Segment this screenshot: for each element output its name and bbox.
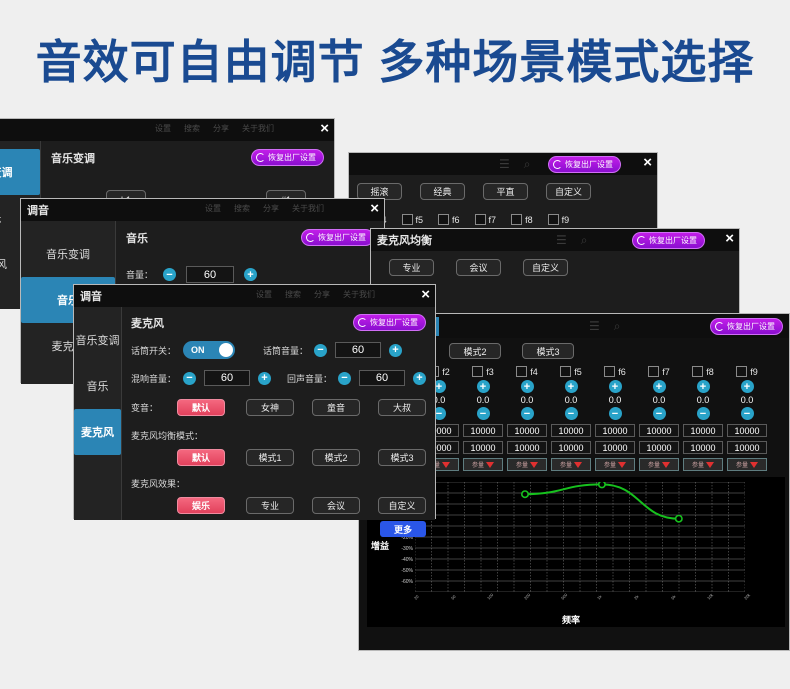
eq-band-checkbox[interactable] [648,366,659,377]
refresh-icon [358,318,367,327]
sidebar-item-music-pitch[interactable]: 音乐变调 [74,317,121,363]
sidebar-item-label: 音乐变调 [46,246,90,262]
chevron-down-icon [662,462,670,468]
chevron-down-icon [574,462,582,468]
titlebar-menu[interactable]: 设置 搜索 分享 关于我们 [256,289,375,300]
eq-band-checkbox[interactable] [548,214,559,225]
toggle-knob [219,343,233,357]
eq-band-checkbox[interactable] [604,366,615,377]
restore-defaults-button[interactable]: 恢复出厂设置 [353,314,426,331]
refresh-icon [306,233,315,242]
eq-band-gain-value: 0.0 [521,395,534,405]
eq-frequency-input[interactable]: 10000 [463,424,503,437]
eq-parameter-label: 参量 [472,460,484,469]
restore-defaults-button[interactable]: 恢复出厂设置 [632,232,705,249]
eq-band-label: f2 [442,367,450,377]
eq-preset-classic-button[interactable]: 经典 [420,183,465,200]
eq-band-gain-value: 0.0 [653,395,666,405]
eq-parameter-dropdown[interactable]: 参量 [683,458,723,471]
eq-band-column[interactable]: f5+0.0− [551,366,591,420]
chart-x-tick: 2k [633,594,640,601]
eq-band-label: f5 [574,367,582,377]
eq-parameter-label: 参量 [736,460,748,469]
eq-band-increase-button[interactable]: + [609,380,622,393]
titlemenu-item[interactable]: 搜索 [285,289,301,300]
eq-band-checkbox[interactable] [736,366,747,377]
eq-band-gain-value: 0.0 [565,395,578,405]
eq-band-increase-button[interactable]: + [653,380,666,393]
mic-effect-label: 麦克风效果： [131,479,185,489]
chart-y-tick: -60% [391,579,413,585]
restore-defaults-button[interactable]: 恢复出厂设置 [251,149,324,166]
eq-bandwidth-input[interactable]: 10000 [683,441,723,454]
mic-effect-label-item: 专业 [261,499,279,512]
eq-band-checkbox[interactable] [475,214,486,225]
voice-option-default-button[interactable]: 默认 [177,399,225,416]
eq-parameter-dropdown[interactable]: 参量 [463,458,503,471]
titlebar-eq-mid: 麦克风均衡 ☰ ⌕ 恢复出厂设置 × [371,229,739,251]
eq-band-label: f6 [452,215,460,225]
mic-effect-entertainment-button[interactable]: 娱乐 [177,497,225,514]
mic-switch-state: ON [191,345,205,355]
eq-mode-label: 模式3 [536,345,559,358]
eq-band-label: f6 [618,367,626,377]
mic-eq-mode-2-button[interactable]: 模式2 [312,449,360,466]
music-volume-increase-button[interactable]: + [244,268,257,281]
eq-preset-custom-button[interactable]: 自定义 [546,183,591,200]
eq-band-gain-value: 0.0 [741,395,754,405]
eq-band-increase-button[interactable]: + [565,380,578,393]
mic-effect-label-item: 自定义 [388,499,415,512]
titlebar-menu[interactable]: 设置 搜索 分享 关于我们 [205,203,324,214]
eq-band-increase-button[interactable]: + [477,380,490,393]
chevron-down-icon [750,462,758,468]
eq-parameter-label: 参量 [692,460,704,469]
eq-band-checkbox[interactable] [560,366,571,377]
eq-band-checkbox[interactable] [511,214,522,225]
more-button-label: 更多 [394,523,412,536]
titlemenu-item[interactable]: 搜索 [234,203,250,214]
eq-bandwidth-input[interactable]: 10000 [463,441,503,454]
close-icon[interactable]: × [725,230,734,248]
restore-defaults-label: 恢复出厂设置 [727,321,775,332]
voice-option-label: 童音 [327,401,345,414]
eq-preset-professional-button[interactable]: 专业 [389,259,434,276]
search-icon[interactable]: ⌕ [614,319,621,334]
chart-x-tick: 20k [743,592,751,600]
echo-volume-value[interactable]: 60 [359,370,405,386]
titlemenu-item[interactable]: 设置 [155,123,171,134]
chart-x-tick: 5k [670,594,677,601]
eq-band-column[interactable]: f7+0.0− [639,366,679,420]
mic-volume-label: 话筒音量： [263,344,308,357]
music-volume-label: 音量： [126,268,153,281]
banner-text: 音效可自由调节 多种场景模式选择 [36,26,755,92]
eq-bandwidth-input[interactable]: 10000 [551,441,591,454]
content-microphone: 麦克风 恢复出厂设置 话筒开关： ON 话筒音量： − 60 [122,307,435,520]
chart-x-tick: 1k [596,594,603,601]
chart-x-tick: 10k [706,592,714,600]
eq-band-decrease-button[interactable]: − [653,407,666,420]
restore-defaults-button[interactable]: 恢复出厂设置 [548,156,621,173]
mic-eq-mode-label-item: 模式2 [324,451,347,464]
more-button[interactable]: 更多 [380,521,426,537]
eq-band-gain-value: 0.0 [477,395,490,405]
eq-frequency-input[interactable]: 10000 [639,424,679,437]
eq-band-decrease-button[interactable]: − [609,407,622,420]
titlemenu-item[interactable]: 关于我们 [343,289,375,300]
restore-defaults-label: 恢复出厂设置 [268,152,316,163]
eq-band-column[interactable]: f6+0.0− [595,366,635,420]
titlebar-icons[interactable]: ☰ ⌕ [589,319,621,334]
voice-option-label: 女神 [261,401,279,414]
eq-band-decrease-button[interactable]: − [741,407,754,420]
music-volume-value[interactable]: 60 [186,266,234,283]
window-title-text: 调音 [80,288,102,304]
eq-band-checkbox[interactable] [472,366,483,377]
chart-xlabel: 频率 [562,613,580,626]
chart-x-tick: 50 [450,594,457,601]
eq-frequency-input[interactable]: 10000 [551,424,591,437]
mic-volume-value[interactable]: 60 [335,342,381,358]
titlebar-music-volume: 调音 设置 搜索 分享 关于我们 × [21,199,384,221]
sidebar-item-label: 音乐变调 [75,332,119,348]
mic-switch-label: 话筒开关： [131,344,183,357]
chart-x-tick: 100 [486,592,494,600]
titlemenu-item[interactable]: 分享 [263,203,279,214]
eq-frequency-input[interactable]: 10000 [595,424,635,437]
eq-parameter-label: 参量 [560,460,572,469]
chart-y-tick: -40% [391,557,413,563]
restore-defaults-label: 恢复出厂设置 [565,159,613,170]
eq-preset-custom-button[interactable]: 自定义 [523,259,568,276]
eq-preset-label: 自定义 [555,185,582,198]
restore-defaults-label: 恢复出厂设置 [318,232,366,243]
eq-band-label: f8 [525,215,533,225]
mic-effect-professional-button[interactable]: 专业 [246,497,294,514]
reverb-increase-button[interactable]: + [258,372,271,385]
eq-parameter-dropdown[interactable]: 参量 [507,458,547,471]
voice-change-label: 变音： [131,401,177,414]
voice-option-goddess-button[interactable]: 女神 [246,399,294,416]
eq-band-gain-value: 0.0 [697,395,710,405]
eq-parameter-label: 参量 [516,460,528,469]
eq-preset-label: 平直 [496,185,514,198]
eq-band-label: f8 [706,367,714,377]
titlebar-eq-back: ☰ ⌕ 恢复出厂设置 × [349,153,657,175]
mic-eq-mode-label: 麦克风均衡模式： [131,431,203,441]
chart-x-tick: 200 [523,592,531,600]
eq-parameter-dropdown[interactable]: 参量 [727,458,767,471]
sidebar-item-music-pitch[interactable]: 音乐变调 [21,231,115,277]
mic-eq-mode-label-item: 默认 [192,451,210,464]
mic-effect-label-item: 娱乐 [192,499,210,512]
chevron-down-icon [618,462,626,468]
eq-preset-meeting-button[interactable]: 会议 [456,259,501,276]
eq-band-label: f7 [489,215,497,225]
echo-volume-label: 回声音量： [287,372,332,385]
mic-volume-increase-button[interactable]: + [389,344,402,357]
close-icon[interactable]: × [643,154,652,172]
mic-switch-toggle[interactable]: ON [183,341,235,359]
eq-bandwidth-input[interactable]: 10000 [727,441,767,454]
window-microphone[interactable]: 调音 设置 搜索 分享 关于我们 × 音乐变调 音乐 麦克风 [73,284,436,519]
eq-preset-label: 专业 [402,261,420,274]
screenshot-stage: 音乐变调 设置 搜索 分享 关于我们 × 音乐变调 音乐 麦克风 [0,118,790,689]
eq-band-decrease-button[interactable]: − [477,407,490,420]
voice-option-uncle-button[interactable]: 大叔 [378,399,426,416]
section-title: 音乐 [126,230,148,246]
eq-preset-flat-button[interactable]: 平直 [483,183,528,200]
sliders-icon[interactable]: ☰ [556,233,567,248]
eq-band-checkbox[interactable] [438,214,449,225]
chart-x-tick: 20 [413,594,420,601]
sidebar-item-label: 麦克风 [81,424,114,440]
eq-preset-label: 会议 [469,261,487,274]
eq-band-increase-button[interactable]: + [521,380,534,393]
eq-bandwidth-input[interactable]: 10000 [595,441,635,454]
mic-eq-mode-1-button[interactable]: 模式1 [246,449,294,466]
refresh-icon [553,160,562,169]
mic-effect-custom-button[interactable]: 自定义 [378,497,426,514]
eq-band-column[interactable]: f3+0.0− [463,366,503,420]
page-banner: 音效可自由调节 多种场景模式选择 [0,0,790,118]
eq-band-decrease-button[interactable]: − [697,407,710,420]
window-title-text: 调音 [27,202,49,218]
close-icon[interactable]: × [320,120,329,138]
sidebar-item-label: 音乐 [86,378,108,394]
chart-plot-area [415,482,745,592]
eq-frequency-input[interactable]: 10000 [727,424,767,437]
window-title-text: 麦克风均衡 [377,232,432,248]
eq-preset-label: 自定义 [532,261,559,274]
titlemenu-item[interactable]: 分享 [213,123,229,134]
mic-effect-label-item: 会议 [327,499,345,512]
eq-mode-label: 模式2 [463,345,486,358]
eq-band-checkbox[interactable] [516,366,527,377]
eq-band-column[interactable]: f8+0.0− [683,366,723,420]
titlemenu-item[interactable]: 设置 [256,289,272,300]
eq-band-label: f4 [530,367,538,377]
refresh-icon [715,322,724,331]
eq-band-decrease-button[interactable]: − [521,407,534,420]
eq-band-label: f7 [662,367,670,377]
titlebar-music-pitch: 音乐变调 设置 搜索 分享 关于我们 × [0,119,334,141]
sidebar-item-label: 麦克风 [0,256,7,272]
eq-frequency-input[interactable]: 10000 [683,424,723,437]
eq-band-increase-button[interactable]: + [697,380,710,393]
sliders-icon[interactable]: ☰ [589,319,600,334]
eq-preset-label: 摇滚 [370,185,388,198]
reverb-decrease-button[interactable]: − [183,372,196,385]
eq-parameter-dropdown[interactable]: 参量 [639,458,679,471]
mic-eq-mode-3-button[interactable]: 模式3 [378,449,426,466]
chevron-down-icon [706,462,714,468]
sidebar-item-microphone[interactable]: 麦克风 [74,409,121,455]
chart-y-tick: -50% [391,568,413,574]
mic-volume-decrease-button[interactable]: − [314,344,327,357]
eq-parameter-label: 参量 [648,460,660,469]
refresh-icon [256,153,265,162]
mic-eq-mode-label-item: 模式3 [390,451,413,464]
search-icon[interactable]: ⌕ [581,233,588,248]
eq-band-label: f5 [416,215,424,225]
close-icon[interactable]: × [421,286,430,304]
eq-bandwidth-input[interactable]: 10000 [507,441,547,454]
eq-frequency-input[interactable]: 10000 [507,424,547,437]
echo-decrease-button[interactable]: − [338,372,351,385]
sliders-icon[interactable]: ☰ [499,157,510,172]
eq-band-label: f9 [750,367,758,377]
chevron-down-icon [486,462,494,468]
chart-ylabel: 增益 [371,539,389,552]
sidebar-item-label: 音乐变调 [0,164,13,180]
close-icon[interactable]: × [370,200,379,218]
chart-y-tick: -30% [391,546,413,552]
restore-defaults-label: 恢复出厂设置 [370,317,418,328]
eq-band-checkbox[interactable] [402,214,413,225]
eq-parameter-label: 参量 [604,460,616,469]
titlemenu-item[interactable]: 分享 [314,289,330,300]
titlebar-microphone: 调音 设置 搜索 分享 关于我们 × [74,285,435,307]
titlemenu-item[interactable]: 搜索 [184,123,200,134]
titlebar-icons[interactable]: ☰ ⌕ [499,157,531,172]
search-icon[interactable]: ⌕ [524,157,531,172]
mic-eq-mode-label-item: 模式1 [258,451,281,464]
eq-parameter-dropdown[interactable]: 参量 [551,458,591,471]
section-title: 音乐变调 [51,150,95,166]
echo-increase-button[interactable]: + [413,372,426,385]
mic-effect-meeting-button[interactable]: 会议 [312,497,360,514]
reverb-volume-value[interactable]: 60 [204,370,250,386]
eq-band-label: f3 [486,367,494,377]
eq-band-checkbox[interactable] [692,366,703,377]
voice-option-child-button[interactable]: 童音 [312,399,360,416]
chevron-down-icon [530,462,538,468]
music-volume-decrease-button[interactable]: − [163,268,176,281]
eq-parameter-dropdown[interactable]: 参量 [595,458,635,471]
sidebar-item-music-pitch[interactable]: 音乐变调 [0,149,40,195]
titlemenu-item[interactable]: 关于我们 [292,203,324,214]
voice-option-label: 默认 [192,401,210,414]
eq-mode-2-button[interactable]: 模式2 [449,343,501,359]
sidebar-microphone[interactable]: 音乐变调 音乐 麦克风 [74,307,122,520]
eq-band-column[interactable]: f9+0.0− [727,366,767,420]
sidebar-item-label: 音乐 [0,210,2,226]
restore-defaults-label: 恢复出厂设置 [649,235,697,246]
titlemenu-item[interactable]: 关于我们 [242,123,274,134]
titlemenu-item[interactable]: 设置 [205,203,221,214]
chart-x-tick: 500 [560,592,568,600]
voice-option-label: 大叔 [393,401,411,414]
titlebar-menu[interactable]: 设置 搜索 分享 关于我们 [155,123,274,134]
mic-eq-mode-default-button[interactable]: 默认 [177,449,225,466]
eq-band-label: f9 [562,215,570,225]
sidebar-item-music[interactable]: 音乐 [74,363,121,409]
titlebar-icons[interactable]: ☰ ⌕ [556,233,588,248]
eq-preset-label: 经典 [433,185,451,198]
eq-mode-3-button[interactable]: 模式3 [522,343,574,359]
eq-band-column[interactable]: f4+0.0− [507,366,547,420]
refresh-icon [637,236,646,245]
reverb-volume-label: 混响音量： [131,372,183,385]
eq-bandwidth-input[interactable]: 10000 [639,441,679,454]
section-title: 麦克风 [131,315,164,331]
eq-band-increase-button[interactable]: + [741,380,754,393]
restore-defaults-button[interactable]: 恢复出厂设置 [301,229,374,246]
restore-defaults-button[interactable]: 恢复出厂设置 [710,318,783,335]
eq-band-decrease-button[interactable]: − [565,407,578,420]
chevron-down-icon [442,462,450,468]
eq-band-gain-value: 0.0 [609,395,622,405]
